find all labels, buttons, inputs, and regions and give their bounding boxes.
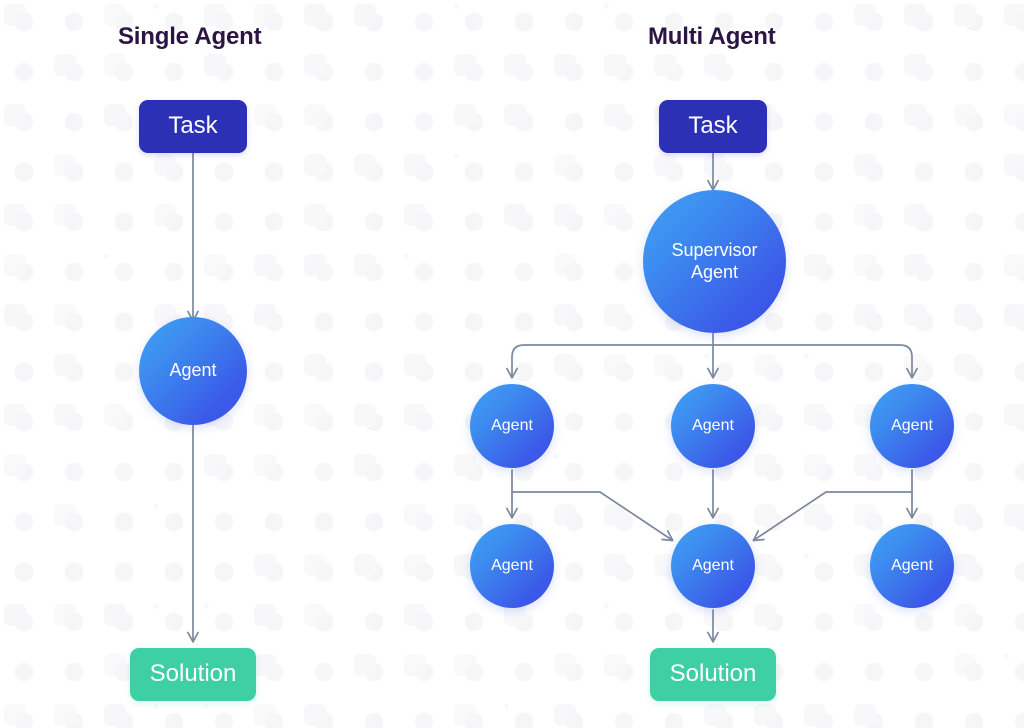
agent-bottom-center-node[interactable]: Agent <box>671 524 755 608</box>
supervisor-label-line-2: Agent <box>691 262 738 283</box>
agent-mid-right-node[interactable]: Agent <box>870 384 954 468</box>
connector-bus-right <box>713 345 912 377</box>
single-task-node[interactable]: Task <box>139 100 247 153</box>
connector-bus-left <box>512 345 713 377</box>
multi-solution-node[interactable]: Solution <box>650 648 776 701</box>
multi-task-node[interactable]: Task <box>659 100 767 153</box>
single-solution-node[interactable]: Solution <box>130 648 256 701</box>
agent-mid-center-node[interactable]: Agent <box>671 384 755 468</box>
agent-bottom-right-node[interactable]: Agent <box>870 524 954 608</box>
agent-mid-left-node[interactable]: Agent <box>470 384 554 468</box>
single-agent-node[interactable]: Agent <box>139 317 247 425</box>
agent-bottom-left-node[interactable]: Agent <box>470 524 554 608</box>
single-agent-heading: Single Agent <box>118 23 261 51</box>
multi-agent-heading: Multi Agent <box>648 23 776 51</box>
diagram-canvas: Single Agent Multi Agent Task Agent Solu… <box>0 0 1024 728</box>
supervisor-label-line-1: Supervisor <box>671 240 757 261</box>
supervisor-agent-node[interactable]: Supervisor Agent <box>643 190 786 333</box>
